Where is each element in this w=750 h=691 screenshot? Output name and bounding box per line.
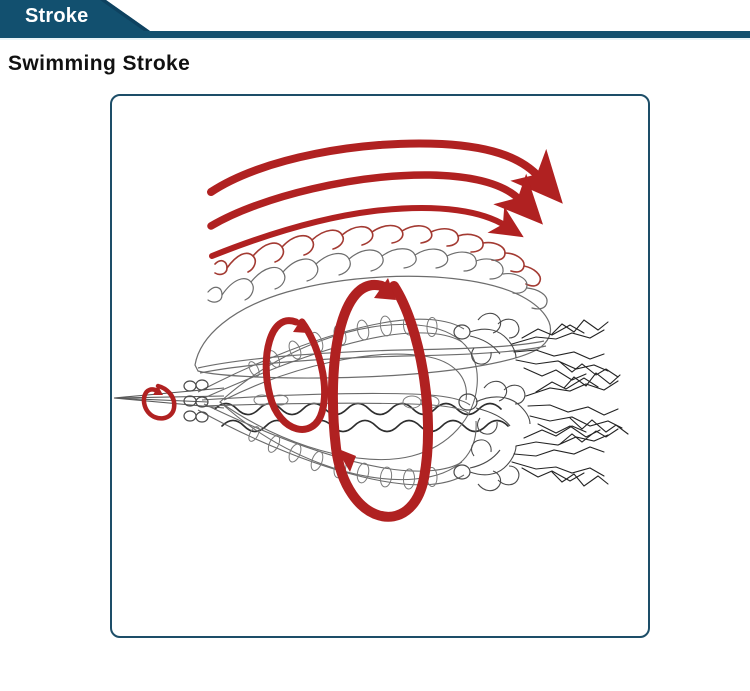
header-underline <box>0 38 750 40</box>
page-title: Swimming Stroke <box>8 52 190 76</box>
water-wave-group <box>215 404 508 432</box>
flow-arrow-2 <box>211 175 521 226</box>
bottom-figure-squid <box>114 278 628 517</box>
rotation-arrow-medium <box>266 321 324 430</box>
flow-arrow-group <box>211 143 540 256</box>
flow-arrow-3 <box>212 208 506 256</box>
header-title: Stroke <box>25 3 88 29</box>
page-root: { "header": { "title": "Stroke", "banner… <box>0 0 750 691</box>
header-banner: Stroke <box>0 0 750 40</box>
header-banner-shape <box>0 0 750 40</box>
tentacle-bristle-group <box>512 320 628 486</box>
swimming-stroke-illustration <box>112 96 648 636</box>
fin-frill-lower <box>208 249 547 309</box>
mantle-upper-lobe <box>220 324 477 459</box>
sucker-row-center <box>254 395 439 408</box>
illustration-panel <box>110 94 650 638</box>
header-bottom-rule <box>0 31 750 39</box>
water-wave-2 <box>222 421 508 432</box>
